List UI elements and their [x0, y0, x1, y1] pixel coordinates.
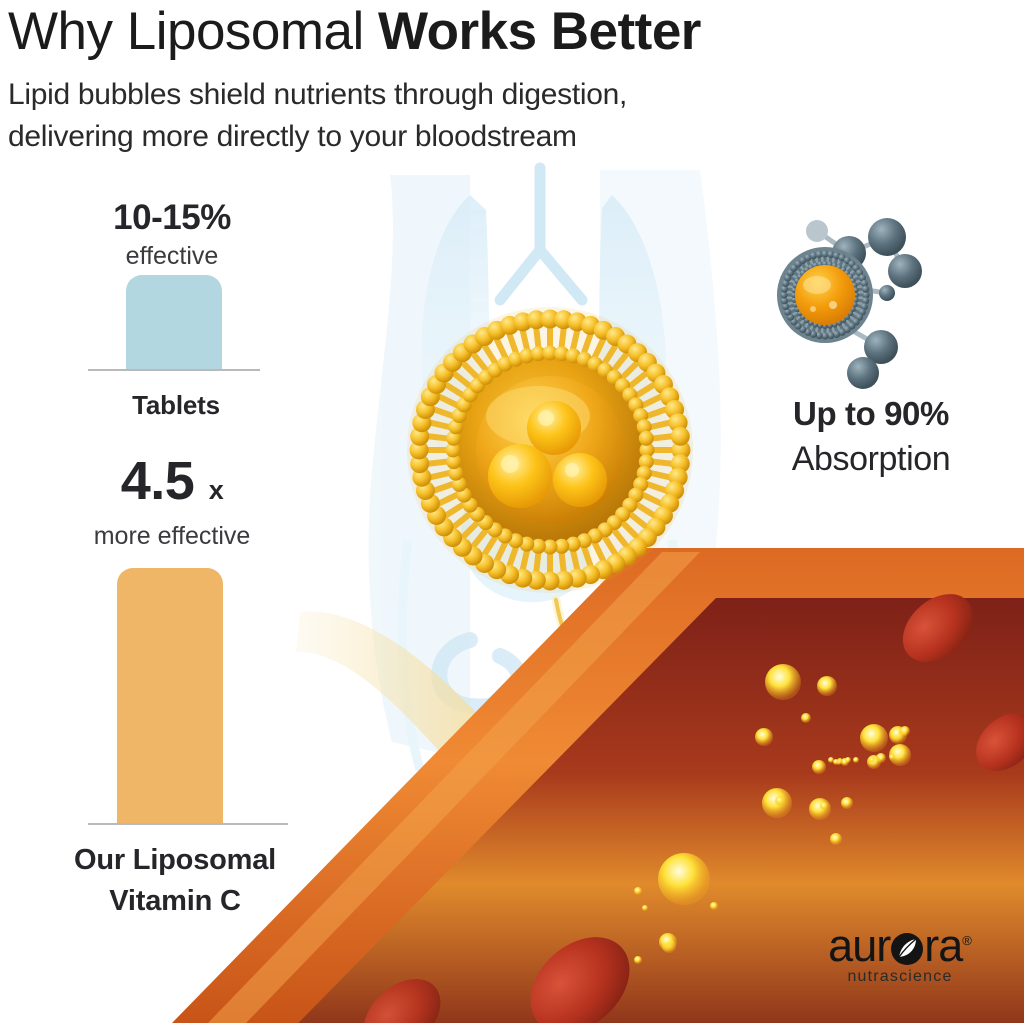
atom [864, 330, 898, 364]
logo-word-first: aur [828, 920, 890, 971]
atom [888, 254, 922, 288]
small-bilayer-beads [780, 250, 869, 339]
registered-trademark-icon: ® [962, 933, 972, 948]
atom [832, 236, 866, 270]
atom [868, 218, 906, 256]
brand-logo: aur ra® nutrascience [800, 918, 1000, 987]
atom [879, 285, 895, 301]
liposomal-stat-block: 4.5 x more effective [36, 452, 308, 552]
liposomal-unit: x [209, 475, 224, 505]
bar-liposomal [117, 568, 223, 824]
atom [847, 357, 879, 389]
tablets-baseline [88, 369, 260, 371]
page-subtitle: Lipid bubbles shield nutrients through d… [8, 74, 968, 158]
tablets-sublabel: effective [36, 240, 308, 272]
bar-label-liposomal-line2: Vitamin C [20, 881, 330, 922]
liposomal-sublabel: more effective [36, 520, 308, 552]
bilayer-tails [424, 324, 676, 576]
small-liposome-molecule [777, 218, 922, 389]
bilayer-bead-ring-outer [410, 310, 691, 591]
gold-thread [556, 600, 698, 818]
gold-swoosh-ribbon [296, 612, 742, 930]
subtitle-line-2: delivering more directly to your bloodst… [8, 116, 968, 158]
bilayer-outer-heads [422, 322, 678, 578]
bar-label-tablets: Tablets [76, 386, 276, 424]
header-block: Why Liposomal Works Better Lipid bubbles… [8, 2, 968, 158]
title-regular-part: Why Liposomal [8, 2, 378, 61]
liposomal-value: 4.5 x [36, 452, 308, 519]
liposomal-number: 4.5 [121, 451, 195, 511]
tablets-stat-block: 10-15% effective [36, 198, 308, 272]
absorption-headline: Up to 90% [726, 392, 1016, 436]
tablets-value: 10-15% [36, 198, 308, 238]
absorption-subline: Absorption [726, 436, 1016, 482]
liposome-illustration [407, 307, 693, 593]
organ-silhouette-group [369, 168, 721, 786]
bilayer-bead-ring-inner [446, 346, 655, 555]
atom [806, 220, 828, 242]
bar-tablets [126, 275, 222, 371]
liposomal-baseline [88, 823, 288, 825]
bar-label-liposomal-line1: Our Liposomal [20, 840, 330, 881]
logo-word-last: ra [924, 920, 962, 971]
leaf-o-icon [890, 932, 924, 966]
bar-label-liposomal: Our Liposomal Vitamin C [20, 840, 330, 922]
subtitle-line-1: Lipid bubbles shield nutrients through d… [8, 74, 968, 116]
title-bold-part: Works Better [378, 2, 701, 61]
absorption-callout: Up to 90% Absorption [726, 392, 1016, 482]
logo-wordmark: aur ra® [828, 918, 972, 969]
page-title: Why Liposomal Works Better [8, 2, 968, 62]
infographic-canvas: Why Liposomal Works Better Lipid bubbles… [0, 0, 1024, 1023]
